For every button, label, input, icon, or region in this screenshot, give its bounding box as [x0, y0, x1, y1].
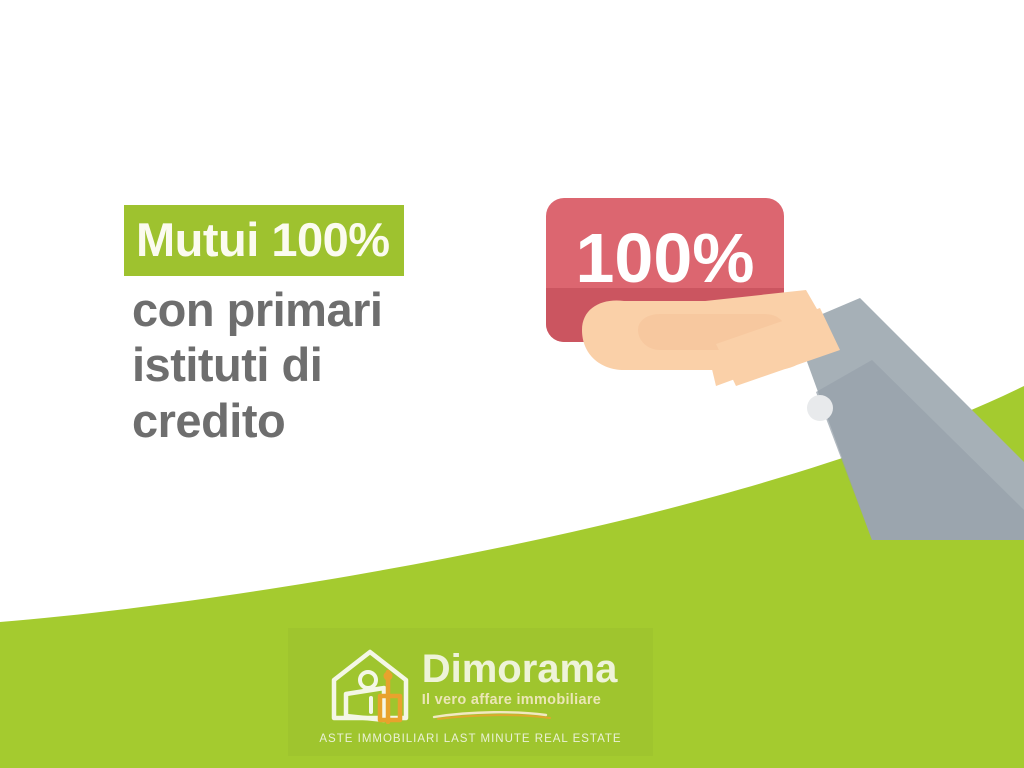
hand-holding-percent-card-illustration: 100% [520, 180, 1024, 540]
headline-highlight: Mutui 100% [124, 205, 404, 276]
logo-row: Dimorama Il vero affare immobiliare [324, 646, 618, 724]
logo-footer-text: ASTE IMMOBILIARI LAST MINUTE REAL ESTATE [319, 733, 621, 745]
logo-tagline: Il vero affare immobiliare [422, 693, 618, 708]
logo-words: Dimorama Il vero affare immobiliare [422, 649, 618, 721]
house-with-key-and-door-icon [324, 646, 416, 724]
promo-banner: Mutui 100% con primari istituti di credi… [0, 0, 1024, 768]
brand-logo-lockup[interactable]: Dimorama Il vero affare immobiliare ASTE… [288, 628, 653, 756]
percent-card-label: 100% [575, 219, 754, 297]
cuff-button-icon [807, 395, 833, 421]
headline-highlight-wrap: Mutui 100% [124, 205, 524, 276]
logo-wordmark: Dimorama [422, 649, 618, 689]
headline-block: Mutui 100% con primari istituti di credi… [124, 205, 524, 448]
headline-line-2: istituti di [132, 337, 524, 392]
headline-subtext: con primari istituti di credito [124, 282, 524, 448]
headline-line-3: credito [132, 393, 524, 448]
headline-line-1: con primari [132, 282, 524, 337]
open-palm-hand-icon [582, 290, 840, 386]
logo-swoosh-icon [432, 710, 552, 720]
